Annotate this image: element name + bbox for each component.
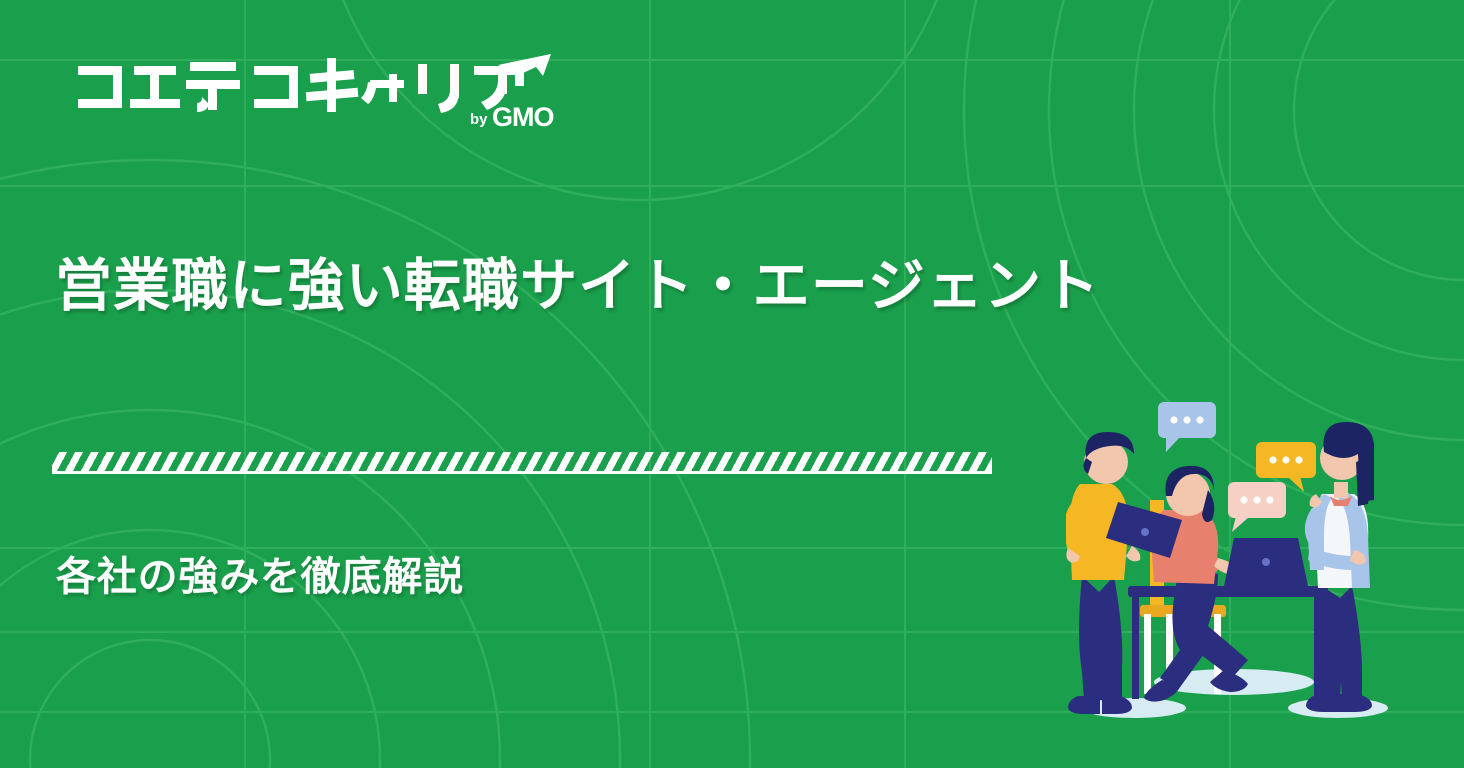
logo-byline-prefix: by [470,111,488,128]
meeting-illustration [1066,390,1396,730]
page-subtitle: 各社の強みを徹底解説 [56,544,464,602]
laptop-on-table [1224,538,1308,586]
page-title: 営業職に強い転職サイト・エージェント [55,252,1315,322]
speech-bubble-pink [1228,482,1286,532]
banner-root: by GMO 営業職に強い転職サイト・エージェント 各社の強みを徹底解説 [0,0,1464,768]
speech-bubble-blue [1158,402,1216,452]
logo-byline-brand: GMO [492,102,554,132]
divider-stripes [52,452,992,472]
hatched-divider [52,452,992,478]
divider-rule [52,471,992,474]
brand-logo[interactable]: by GMO [78,62,558,134]
logo-mark: by GMO [78,52,558,134]
